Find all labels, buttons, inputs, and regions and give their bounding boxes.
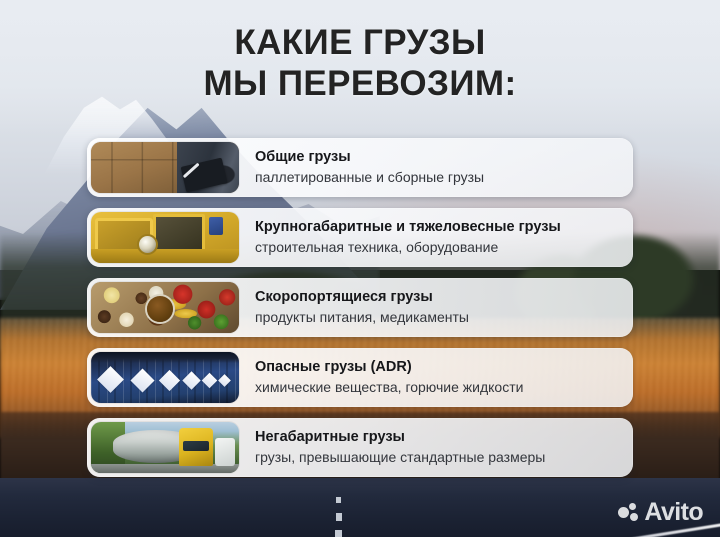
list-item-title: Опасные грузы (ADR) [255, 359, 523, 377]
avito-dots-icon [618, 503, 639, 523]
list-item[interactable]: Общие грузы паллетированные и сборные гр… [87, 138, 633, 197]
list-item-text: Крупногабаритные и тяжеловесные грузы ст… [239, 219, 571, 256]
avito-watermark: Avito [618, 500, 703, 525]
cargo-thumbnail-outofgauge [91, 422, 239, 473]
list-item-subtitle: паллетированные и сборные грузы [255, 168, 484, 186]
road-center-dash [336, 513, 342, 521]
nut-bowl-icon [147, 296, 173, 322]
avito-dot-medium [629, 503, 636, 510]
cargo-thumbnail-general [91, 142, 239, 193]
avito-dot-small [630, 513, 638, 521]
list-item-text: Негабаритные грузы грузы, превышающие ст… [239, 429, 555, 466]
list-item-subtitle: строительная техника, оборудование [255, 238, 561, 256]
cargo-thumbnail-oversized [91, 212, 239, 263]
avito-dot-large [618, 507, 629, 518]
list-item-title: Общие грузы [255, 149, 484, 167]
cargo-thumbnail-adr [91, 352, 239, 403]
road-center-dash [335, 530, 342, 537]
white-truck-icon [215, 438, 235, 466]
list-item-subtitle: грузы, превышающие стандартные размеры [255, 448, 545, 466]
road-center-dash [336, 497, 341, 503]
cargo-type-list: Общие грузы паллетированные и сборные гр… [87, 138, 633, 488]
list-item-subtitle: продукты питания, медикаменты [255, 308, 469, 326]
list-item-title: Негабаритные грузы [255, 429, 545, 447]
list-item[interactable]: Крупногабаритные и тяжеловесные грузы ст… [87, 208, 633, 267]
machine-base [91, 249, 239, 263]
machine-blue-part [209, 217, 223, 235]
page-title-line-1: КАКИЕ ГРУЗЫ [234, 23, 485, 62]
list-item-title: Скоропортящиеся грузы [255, 289, 469, 307]
list-item-text: Скоропортящиеся грузы продукты питания, … [239, 289, 479, 326]
list-item-subtitle: химические вещества, горючие жидкости [255, 378, 523, 396]
yellow-truck-cab-icon [179, 428, 213, 466]
headlamp-icon [137, 234, 158, 255]
page-title: КАКИЕ ГРУЗЫ МЫ ПЕРЕВОЗИМ: [0, 22, 720, 105]
list-item[interactable]: Опасные грузы (ADR) химические вещества,… [87, 348, 633, 407]
list-item-text: Опасные грузы (ADR) химические вещества,… [239, 359, 533, 396]
list-item[interactable]: Негабаритные грузы грузы, превышающие ст… [87, 418, 633, 477]
poster-root: КАКИЕ ГРУЗЫ МЫ ПЕРЕВОЗИМ: Общие грузы па… [0, 0, 720, 537]
page-title-line-2: МЫ ПЕРЕВОЗИМ: [0, 63, 720, 104]
list-item[interactable]: Скоропортящиеся грузы продукты питания, … [87, 278, 633, 337]
cargo-thumbnail-perishable [91, 282, 239, 333]
list-item-text: Общие грузы паллетированные и сборные гр… [239, 149, 494, 186]
list-item-title: Крупногабаритные и тяжеловесные грузы [255, 219, 561, 237]
avito-wordmark: Avito [644, 500, 703, 525]
